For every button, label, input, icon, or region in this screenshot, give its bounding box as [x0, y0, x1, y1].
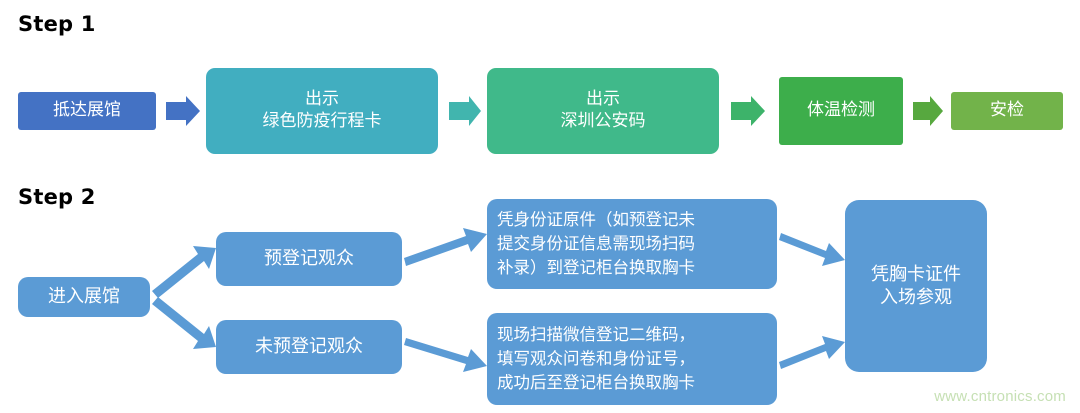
node-temperature-check-label: 体温检测 — [807, 100, 875, 122]
arrow-instructions-notpreg-to-final-icon — [779, 336, 845, 369]
node-show-shenzhen-police-code-line2: 深圳公安码 — [561, 111, 646, 133]
arrow-policecode-to-temp-icon — [731, 96, 765, 126]
node-show-shenzhen-police-code-line1: 出示 — [586, 89, 620, 111]
arrow-temp-to-security-icon — [913, 96, 943, 126]
arrow-enter-to-preregistered-icon — [152, 246, 216, 298]
node-enter-with-badge: 凭胸卡证件 入场参观 — [845, 200, 987, 372]
node-not-preregistered-instructions-line3: 成功后至登记柜台换取胸卡 — [497, 371, 695, 395]
node-preregistered-instructions: 凭身份证原件（如预登记未 提交身份证信息需现场扫码 补录）到登记柜台换取胸卡 — [487, 199, 777, 289]
node-not-preregistered-visitor-label: 未预登记观众 — [255, 335, 363, 358]
arrow-instructions-preg-to-final-icon — [779, 233, 845, 266]
node-security-check: 安检 — [951, 92, 1063, 130]
node-preregistered-visitor-label: 预登记观众 — [264, 247, 354, 270]
node-show-shenzhen-police-code: 出示 深圳公安码 — [487, 68, 719, 154]
node-preregistered-instructions-line2: 提交身份证信息需现场扫码 — [497, 232, 695, 256]
node-enter-with-badge-line1: 凭胸卡证件 — [871, 263, 961, 286]
arrow-enter-to-not-preregistered-icon — [152, 297, 216, 349]
arrow-not-preregistered-to-instructions-icon — [404, 338, 487, 372]
node-preregistered-instructions-line3: 补录）到登记柜台换取胸卡 — [497, 256, 695, 280]
arrow-preregistered-to-instructions-icon — [404, 228, 487, 266]
node-preregistered-visitor: 预登记观众 — [216, 232, 402, 286]
node-security-check-label: 安检 — [990, 100, 1024, 122]
node-preregistered-instructions-line1: 凭身份证原件（如预登记未 — [497, 208, 695, 232]
node-not-preregistered-instructions: 现场扫描微信登记二维码， 填写观众问卷和身份证号， 成功后至登记柜台换取胸卡 — [487, 313, 777, 405]
watermark-cntronics: www.cntronics.com — [934, 388, 1066, 405]
arrow-arrive-to-greencard-icon — [166, 96, 200, 126]
node-enter-venue-label: 进入展馆 — [48, 285, 120, 308]
node-not-preregistered-instructions-line2: 填写观众问卷和身份证号， — [497, 347, 695, 371]
step2-heading: Step 2 — [18, 185, 96, 209]
node-show-green-travel-card-line1: 出示 — [305, 89, 339, 111]
node-not-preregistered-visitor: 未预登记观众 — [216, 320, 402, 374]
node-enter-with-badge-line2: 入场参观 — [880, 286, 952, 309]
node-arrive-venue: 抵达展馆 — [18, 92, 156, 130]
flowchart-canvas: Step 1 抵达展馆 出示 绿色防疫行程卡 出示 深圳公安码 体温检测 安检 … — [0, 0, 1080, 413]
node-show-green-travel-card: 出示 绿色防疫行程卡 — [206, 68, 438, 154]
node-temperature-check: 体温检测 — [779, 77, 903, 145]
node-enter-venue: 进入展馆 — [18, 277, 150, 317]
step1-heading: Step 1 — [18, 12, 96, 36]
arrow-greencard-to-policecode-icon — [449, 96, 481, 126]
node-show-green-travel-card-line2: 绿色防疫行程卡 — [263, 111, 382, 133]
node-not-preregistered-instructions-line1: 现场扫描微信登记二维码， — [497, 323, 695, 347]
node-arrive-venue-label: 抵达展馆 — [53, 100, 121, 122]
